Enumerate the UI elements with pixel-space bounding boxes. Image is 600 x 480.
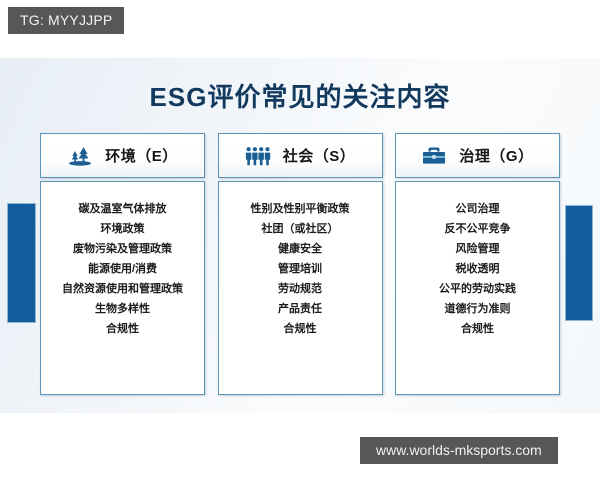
- column-header-social: 社会（S）: [218, 133, 383, 178]
- trees-icon: [67, 145, 93, 167]
- list-item: 环境政策: [101, 222, 145, 238]
- esg-column-social: 社会（S） 性别及性别平衡政策 社团（或社区） 健康安全 管理培训 劳动规范 产…: [218, 133, 383, 395]
- list-item: 管理培训: [278, 262, 322, 278]
- list-item: 风险管理: [456, 242, 500, 258]
- column-body-social: 性别及性别平衡政策 社团（或社区） 健康安全 管理培训 劳动规范 产品责任 合规…: [218, 181, 383, 395]
- list-item: 合规性: [284, 322, 317, 338]
- list-item: 健康安全: [278, 242, 322, 258]
- list-item: 自然资源使用和管理政策: [62, 282, 183, 298]
- accent-bar-left: [7, 203, 36, 323]
- site-watermark: www.worlds-mksports.com: [360, 437, 558, 464]
- esg-column-environment: 环境（E） 碳及温室气体排放 环境政策 废物污染及管理政策 能源使用/消费 自然…: [40, 133, 205, 395]
- column-label-environment: 环境（E）: [105, 145, 178, 166]
- column-label-social: 社会（S）: [283, 145, 356, 166]
- briefcase-icon: [421, 145, 447, 167]
- list-item: 公司治理: [456, 202, 500, 218]
- accent-bar-right: [565, 205, 593, 321]
- list-item: 反不公平竞争: [445, 222, 511, 238]
- list-item: 合规性: [106, 322, 139, 338]
- column-body-environment: 碳及温室气体排放 环境政策 废物污染及管理政策 能源使用/消费 自然资源使用和管…: [40, 181, 205, 395]
- esg-columns: 环境（E） 碳及温室气体排放 环境政策 废物污染及管理政策 能源使用/消费 自然…: [40, 133, 560, 395]
- list-item: 税收透明: [456, 262, 500, 278]
- slide-canvas: ESG评价常见的关注内容: [0, 58, 600, 413]
- column-label-governance: 治理（G）: [459, 145, 533, 166]
- list-item: 能源使用/消费: [88, 262, 157, 278]
- esg-column-governance: 治理（G） 公司治理 反不公平竞争 风险管理 税收透明 公平的劳动实践 道德行为…: [395, 133, 560, 395]
- list-item: 劳动规范: [278, 282, 322, 298]
- list-item: 碳及温室气体排放: [79, 202, 167, 218]
- list-item: 生物多样性: [95, 302, 150, 318]
- list-item: 社团（或社区）: [262, 222, 339, 238]
- column-header-governance: 治理（G）: [395, 133, 560, 178]
- tg-badge: TG: MYYJJPP: [8, 7, 124, 34]
- list-item: 公平的劳动实践: [439, 282, 516, 298]
- list-item: 合规性: [461, 322, 494, 338]
- people-group-icon: [245, 145, 271, 167]
- list-item: 性别及性别平衡政策: [251, 202, 350, 218]
- page-title: ESG评价常见的关注内容: [0, 77, 600, 114]
- column-body-governance: 公司治理 反不公平竞争 风险管理 税收透明 公平的劳动实践 道德行为准则 合规性: [395, 181, 560, 395]
- list-item: 道德行为准则: [445, 302, 511, 318]
- column-header-environment: 环境（E）: [40, 133, 205, 178]
- list-item: 产品责任: [278, 302, 322, 318]
- list-item: 废物污染及管理政策: [73, 242, 172, 258]
